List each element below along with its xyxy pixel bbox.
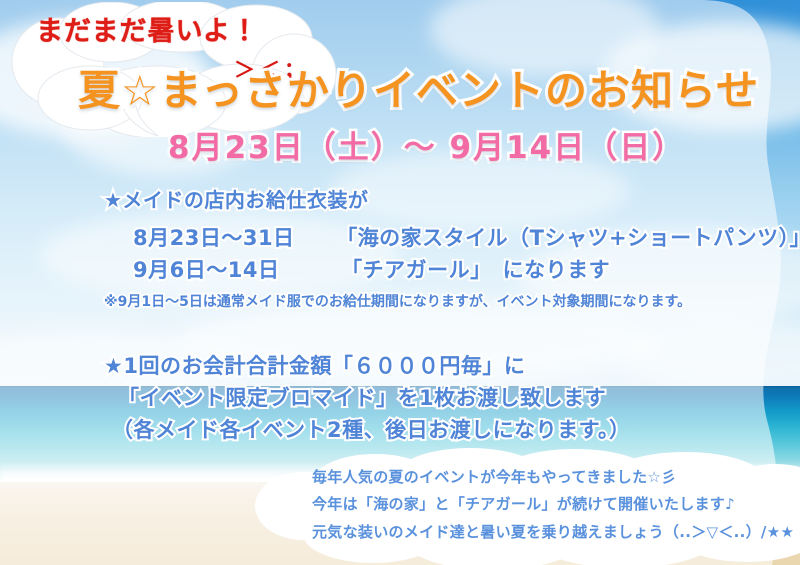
event-date-range: 8月23日（土）〜 9月14日（日） [168, 133, 685, 164]
footer-line-2: 今年は「海の家」と「チアガール」が続けて開催いたします♪ [312, 497, 735, 512]
costume-row-1: 8月23日〜31日 「海の家スタイル（Tシャツ+ショートパンツ）」 [133, 228, 800, 249]
bubble-text: まだまだ暑いよ！ [36, 18, 326, 45]
costume-row-2-costume: 「チアガール」 になります [341, 258, 610, 282]
bromide-line-2: 「イベント限定ブロマイド」を1枚お渡し致します [118, 388, 606, 409]
costume-section-note: ※9月1日〜5日は通常メイド服でのお給仕期間になりますが、イベント対象期間になり… [104, 295, 691, 309]
page-title: 夏☆まっさかりイベントのお知らせ [78, 70, 759, 112]
footer-line-1: 毎年人気の夏のイベントが今年もやってきました☆彡 [312, 470, 676, 485]
costume-row-2-period: 9月6日〜14日 [133, 258, 279, 282]
footer-line-3: 元気な装いのメイド達と暑い夏を乗り越えましょう（..＞▽＜..）/★★ [312, 525, 794, 540]
bromide-line-1: ★1回のお会計合計金額「６０００円毎」に [104, 356, 525, 377]
costume-row-1-costume: 「海の家スタイル（Tシャツ+ショートパンツ）」 [336, 226, 800, 250]
cloud-shape [40, 210, 400, 300]
costume-row-1-period: 8月23日〜31日 [133, 226, 295, 250]
summer-event-poster: まだまだ暑いよ！ ＞＜； 夏☆まっさかりイベントのお知らせ 8月23日（土）〜 … [0, 0, 800, 565]
bromide-line-3: （各メイド各イベント2種、後日お渡しになります。） [112, 420, 631, 441]
costume-section-heading: ★メイドの店内お給仕衣装が [104, 190, 368, 210]
costume-row-2: 9月6日〜14日 「チアガール」 になります [133, 260, 610, 281]
